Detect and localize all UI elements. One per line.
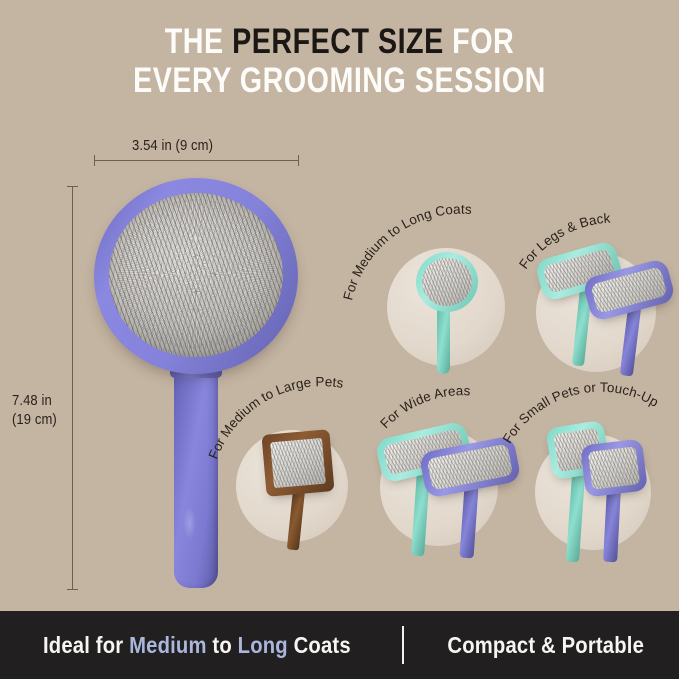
banner-highlight-long: Long	[238, 632, 288, 658]
arc-text: For Medium to Large Pets	[206, 374, 345, 461]
infographic-canvas: THE PERFECT SIZE FOR EVERY GROOMING SESS…	[0, 0, 679, 679]
headline-part-1: THE	[165, 22, 232, 61]
banner-divider	[402, 626, 404, 664]
headline-line-2: EVERY GROOMING SESSION	[61, 61, 618, 100]
banner-left-pre: Ideal for	[43, 632, 129, 658]
page-title: THE PERFECT SIZE FOR EVERY GROOMING SESS…	[61, 22, 618, 100]
inset-legs-and-back: For Legs & Back	[524, 228, 676, 376]
svg-text:For Legs & Back: For Legs & Back	[516, 211, 611, 272]
banner-highlight-medium: Medium	[129, 632, 207, 658]
banner-left-text: Ideal for Medium to Long Coats	[43, 632, 351, 659]
height-dimension-label: 7.48 in (19 cm)	[12, 392, 57, 430]
inset-wide-areas: For Wide Areas	[372, 400, 524, 560]
inset-medium-to-large-pets: For Medium to Large Pets	[232, 404, 374, 546]
inset-small-pets-or-touch-up: For Small Pets or Touch-Up	[513, 404, 671, 564]
width-dimension-label: 3.54 in (9 cm)	[132, 138, 213, 154]
headline-emphasis: PERFECT SIZE	[232, 22, 444, 61]
headline-part-2: FOR	[444, 22, 515, 61]
banner-left-mid: to	[207, 632, 238, 658]
hero-pin-bed	[103, 187, 288, 363]
arc-text: For Legs & Back	[516, 211, 611, 272]
brush-handle-mint	[437, 308, 450, 374]
svg-text:For Medium to Large Pets: For Medium to Large Pets	[206, 374, 345, 461]
svg-text:For Medium to Long Coats: For Medium to Long Coats	[340, 202, 472, 302]
svg-text:For Small Pets or Touch-Up: For Small Pets or Touch-Up	[500, 380, 661, 446]
height-measure-line	[72, 186, 73, 590]
brush-handle-purple	[603, 488, 621, 563]
svg-text:For Wide Areas: For Wide Areas	[377, 383, 471, 431]
hero-pin-fringe	[112, 194, 280, 355]
inset-medium-to-long-coats: For Medium to Long Coats	[383, 232, 513, 372]
inset-label-small-pets-or-touch-up: For Small Pets or Touch-Up	[505, 382, 679, 458]
hero-brush-head	[87, 171, 304, 381]
inset-label-legs-and-back: For Legs & Back	[516, 214, 679, 286]
width-measure-line	[94, 160, 299, 161]
banner-right-text: Compact & Portable	[447, 632, 644, 659]
arc-text: For Small Pets or Touch-Up	[500, 380, 661, 446]
arc-text: For Medium to Long Coats	[340, 202, 472, 302]
arc-text: For Wide Areas	[377, 383, 471, 431]
banner-left-post: Coats	[288, 632, 351, 658]
bottom-banner: Ideal for Medium to Long Coats Compact &…	[0, 611, 679, 679]
pin-bed	[427, 443, 514, 490]
